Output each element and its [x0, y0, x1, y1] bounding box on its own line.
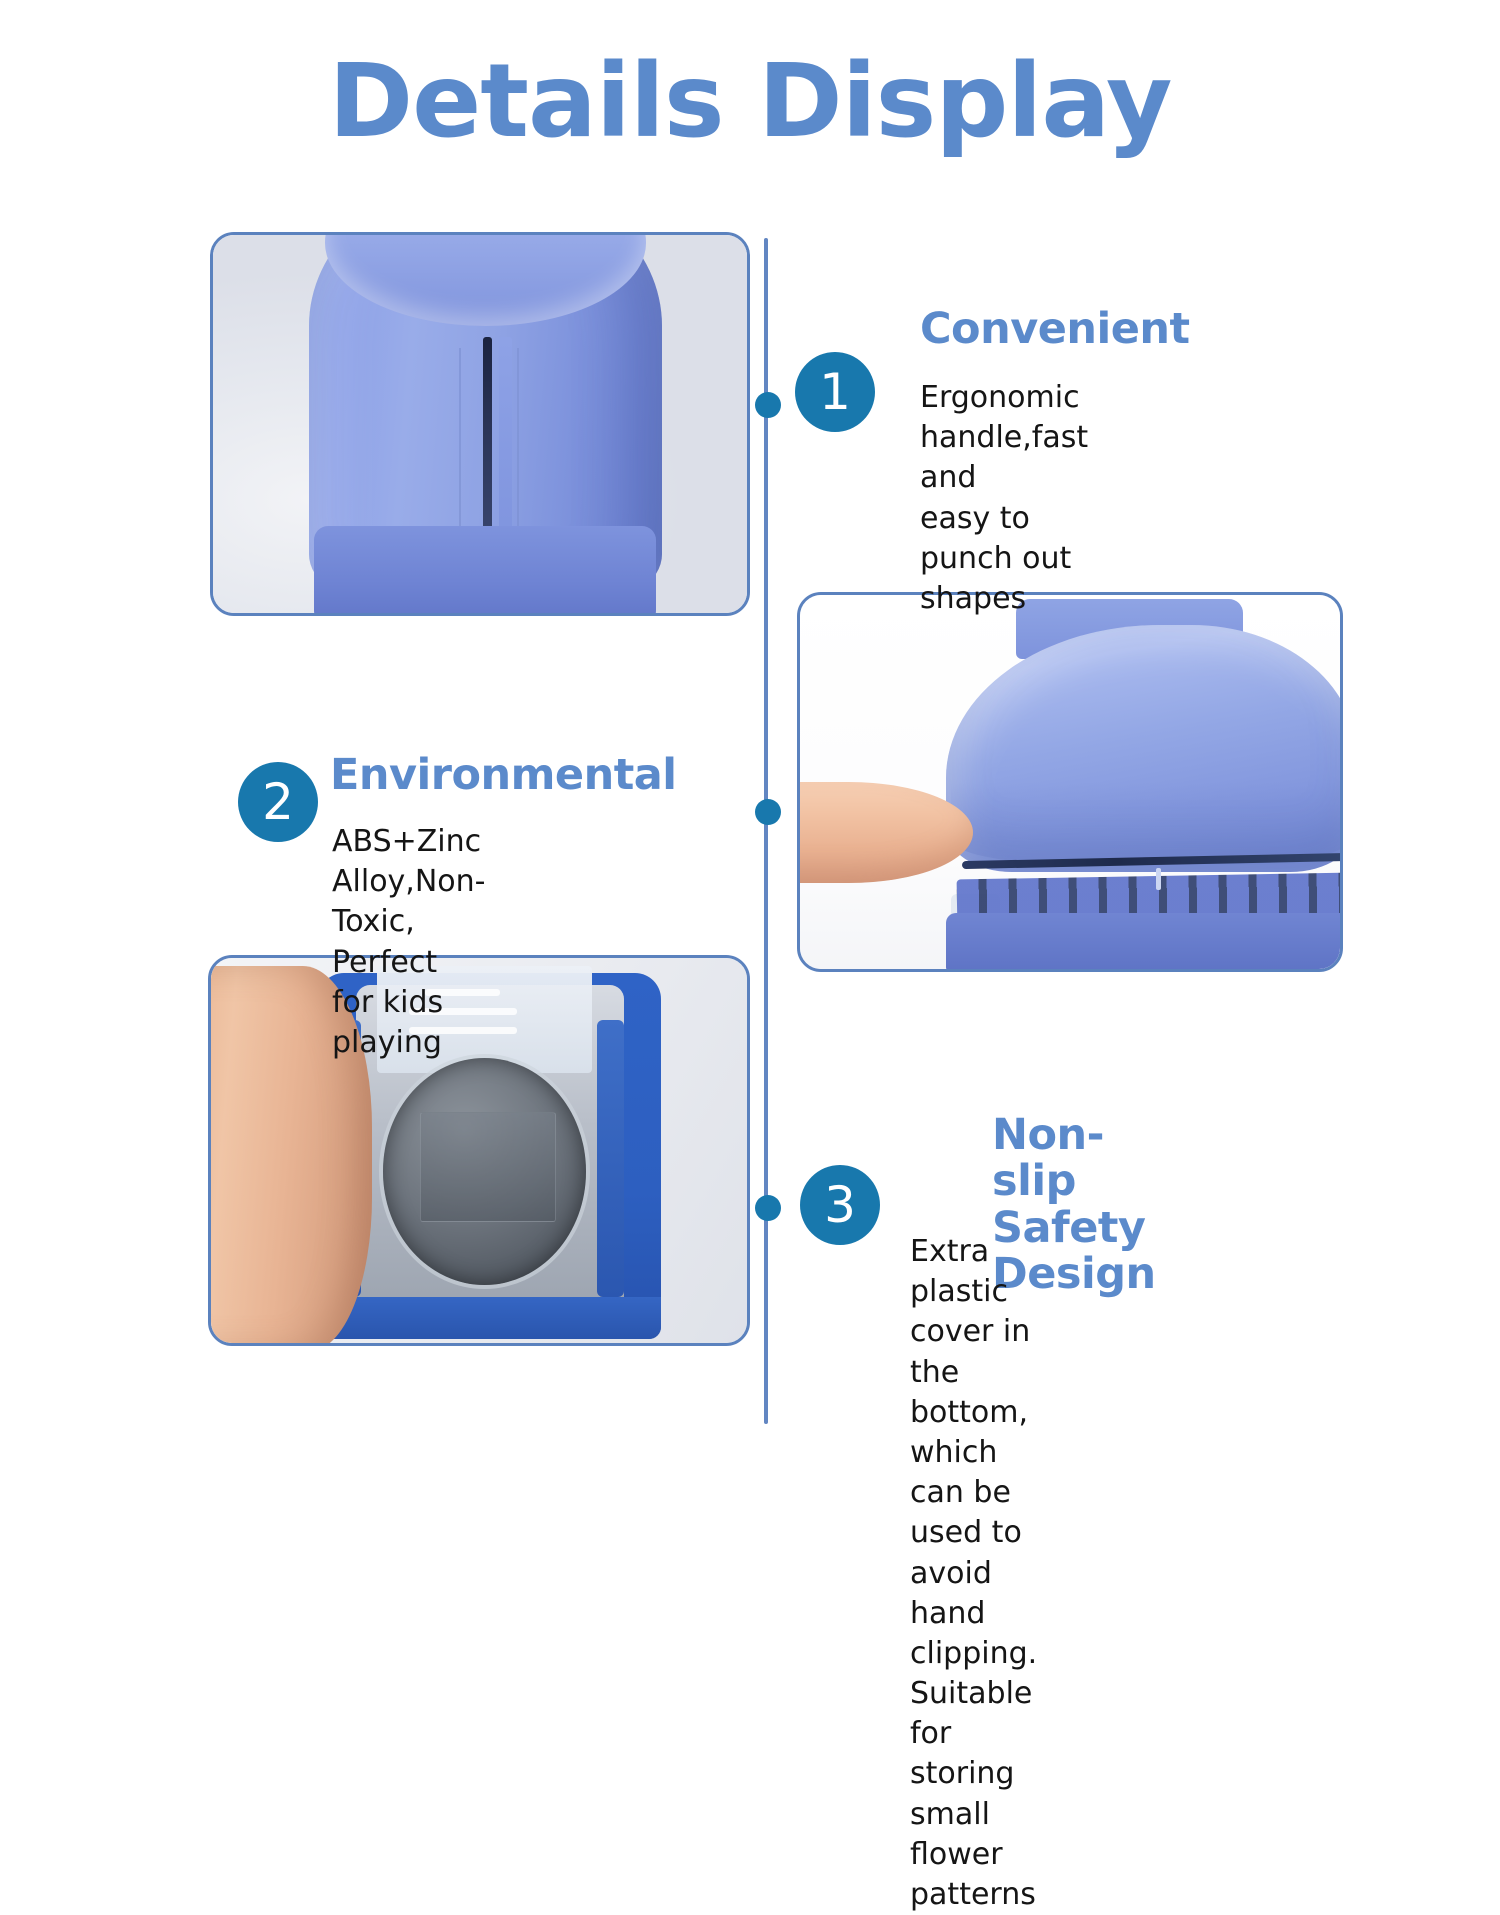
feature-number-badge-2: 2 — [238, 762, 318, 842]
feature-body-3: Extra plastic cover in the bottom, which… — [910, 1232, 1037, 1915]
punch-base — [314, 526, 656, 613]
timeline-dot-2 — [755, 799, 781, 825]
photo-2-content — [800, 595, 1340, 969]
product-photo-convenient — [210, 232, 750, 616]
feature-number-badge-1: 1 — [795, 352, 875, 432]
metal-die-plate — [420, 1112, 556, 1222]
punch-bottom-plate — [946, 913, 1340, 969]
frame-bottom-bar — [318, 1297, 661, 1339]
feature-number-badge-3: 3 — [800, 1165, 880, 1245]
punch-alignment-tick-upper — [1156, 868, 1161, 890]
punch-dome-shading — [951, 782, 1340, 864]
photo-1-content — [213, 235, 747, 613]
feature-heading-2: Environmental — [330, 752, 677, 798]
frame-rib-right — [597, 1020, 624, 1297]
timeline-dot-3 — [755, 1195, 781, 1221]
product-photo-finger-press — [797, 592, 1343, 972]
infographic-page: Details Display — [0, 0, 1500, 1500]
feature-body-1: Ergonomic handle,fast and easy to punch … — [920, 378, 1088, 619]
timeline-dot-1 — [755, 392, 781, 418]
page-title: Details Display — [0, 48, 1500, 155]
feature-body-2: ABS+Zinc Alloy,Non-Toxic, Perfect for ki… — [332, 822, 483, 1063]
feature-heading-1: Convenient — [920, 306, 1190, 352]
